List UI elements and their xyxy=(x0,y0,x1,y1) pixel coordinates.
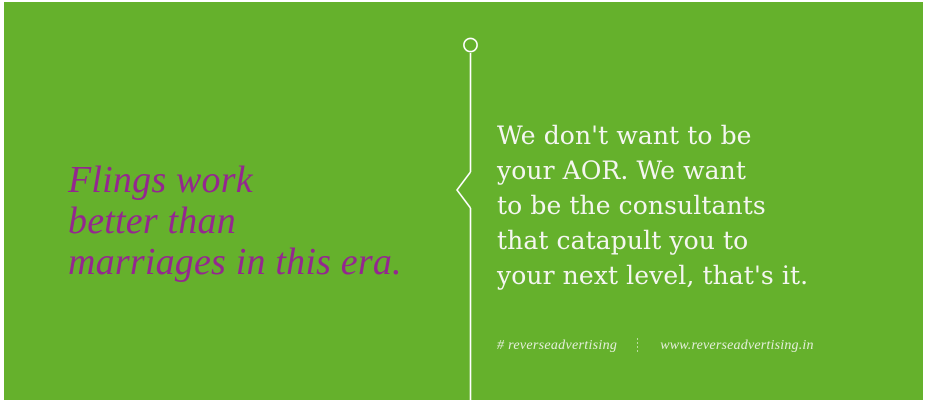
body-copy-statement: We don't want to be your AOR. We want to… xyxy=(497,118,897,293)
footer-hashtag[interactable]: # reverseadvertising xyxy=(497,338,617,354)
footer-dotted-separator-icon xyxy=(637,338,638,354)
footer-bar: # reverseadvertising www.reverseadvertis… xyxy=(497,336,814,356)
footer-website-url[interactable]: www.reverseadvertising.in xyxy=(660,338,814,354)
poster-canvas: Flings work better than marriages in thi… xyxy=(0,0,940,400)
headline-quote: Flings work better than marriages in thi… xyxy=(68,160,458,283)
